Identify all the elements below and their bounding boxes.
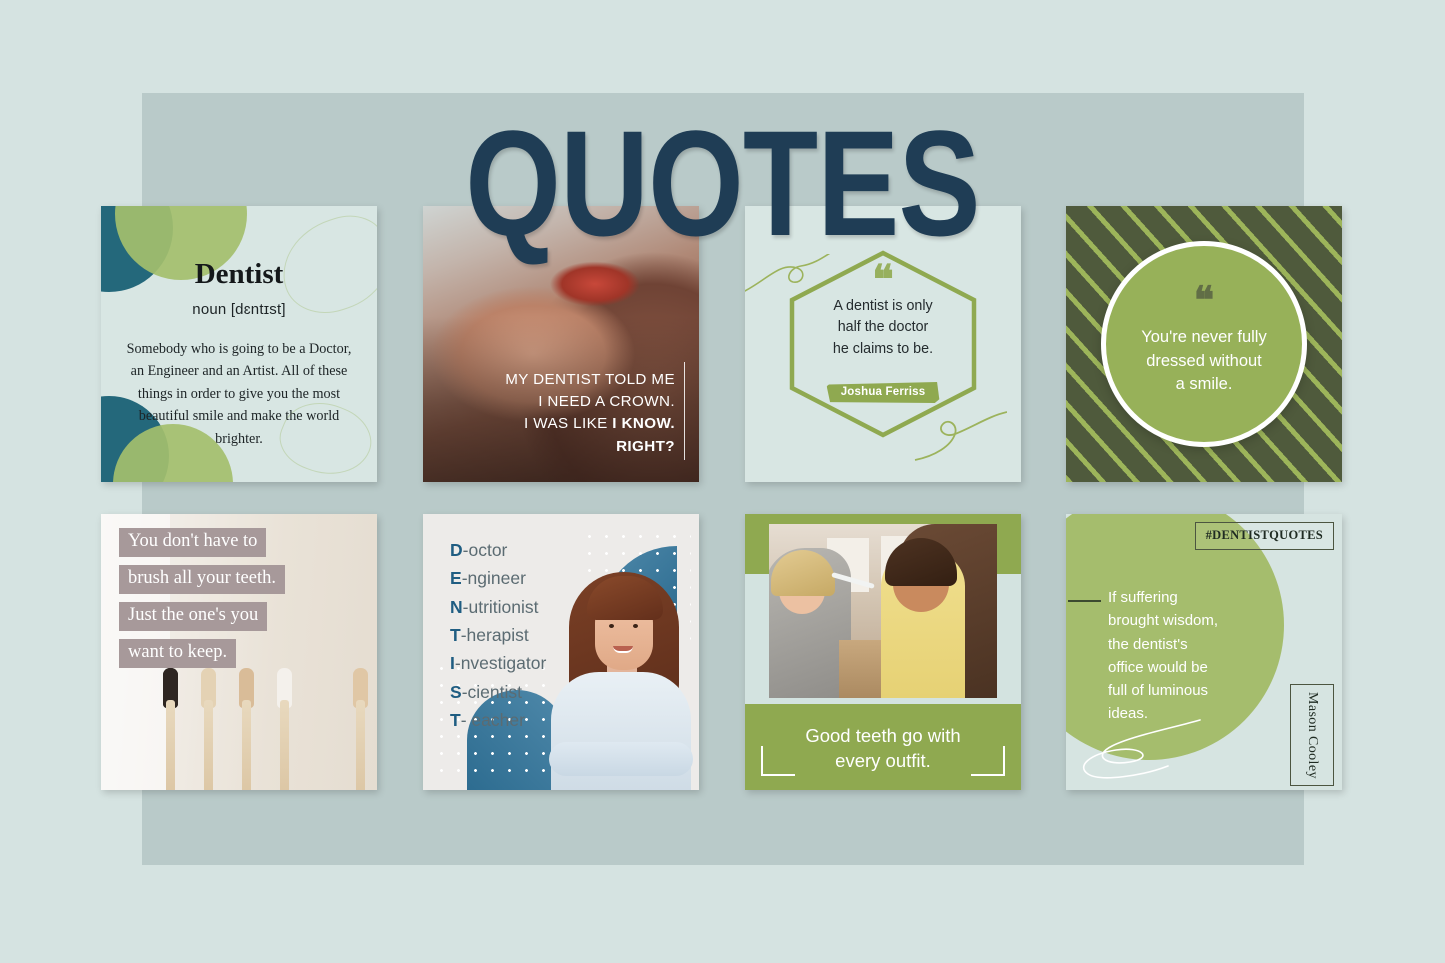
crown-joke-line4: RIGHT? [505,436,675,458]
cooley-line2: brought wisdom, [1108,609,1258,632]
toothbrush-icon [277,668,292,790]
toothbrush-icon [239,668,254,790]
toothbrush-row [163,666,377,790]
acronym-item: T-herapist [450,621,546,649]
cooley-line3: the dentist's [1108,633,1258,656]
squiggle-decoration [911,406,1007,466]
cooley-quote-text: If suffering brought wisdom, the dentist… [1108,586,1258,726]
definition-pronunciation: noun [dɛntɪst] [123,301,355,318]
acronym-item: T- eacher [450,706,546,734]
toothbrush-icon [353,668,368,790]
definition-content: Dentist noun [dɛntɪst] Somebody who is g… [101,258,377,450]
crown-joke-text: MY DENTIST TOLD ME I NEED A CROWN. I WAS… [505,369,675,458]
acronym-item: E-ngineer [450,564,546,592]
hex-quote-author: Joshua Ferriss [827,382,940,403]
dentist-portrait [533,562,699,790]
cooley-line5: full of luminous [1108,679,1258,702]
definition-word: Dentist [123,258,355,291]
hex-quote-line2: half the doctor [810,317,956,338]
outfit-caption: Good teeth go with every outfit. [745,723,1021,774]
crown-joke-line2: I NEED A CROWN. [505,391,675,413]
acronym-item: N-utritionist [450,593,546,621]
circle-badge: ❝ You're never fully dressed without a s… [1101,241,1307,447]
cooley-line4: office would be [1108,656,1258,679]
card-good-teeth-quote[interactable]: Good teeth go with every outfit. [745,514,1021,790]
quote-mark-icon: ❝ [872,268,894,292]
toothbrush-line2: brush all your teeth. [119,565,285,594]
cooley-line1: If suffering [1108,586,1258,609]
acronym-item: S-cientist [450,678,546,706]
crown-joke-line1: MY DENTIST TOLD ME [505,369,675,391]
hashtag-label: #DENTISTQUOTES [1206,528,1323,543]
toothbrush-line1: You don't have to [119,528,266,557]
smile-quote-line2: dressed without [1141,350,1266,373]
acronym-list: D-octor E-ngineer N-utritionist T-herapi… [450,536,546,734]
card-toothbrush-quote[interactable]: You don't have to brush all your teeth. … [101,514,377,790]
toothbrush-icon [201,668,216,790]
toothbrush-quote-text: You don't have to brush all your teeth. … [119,528,285,676]
quote-mark-icon: ❝ [1194,291,1214,312]
hex-quote-line3: he claims to be. [810,339,956,360]
hex-quote-line1: A dentist is only [810,296,956,317]
family-brushing-photo [769,524,997,698]
toothbrush-line4: want to keep. [119,639,236,668]
toothbrush-icon [163,668,178,790]
smile-quote-text: You're never fully dressed without a smi… [1121,326,1286,396]
crown-joke-line3: I WAS LIKE I KNOW. [505,413,675,435]
card-mason-cooley-quote[interactable]: #DENTISTQUOTES If suffering brought wisd… [1066,514,1342,790]
acronym-item: I-nvestigator [450,649,546,677]
hashtag-box: #DENTISTQUOTES [1195,522,1334,550]
cooley-author: Mason Cooley [1290,684,1334,786]
smile-quote-line1: You're never fully [1141,326,1266,349]
card-dentist-acronym[interactable]: D-octor E-ngineer N-utritionist T-herapi… [423,514,699,790]
acronym-item: D-octor [450,536,546,564]
smile-quote-line3: a smile. [1141,373,1266,396]
hexagon-author-banner: Joshua Ferriss [827,382,940,403]
outfit-line1: Good teeth go with [745,723,1021,749]
outfit-line2: every outfit. [745,748,1021,774]
hexagon-quote-text: A dentist is only half the doctor he cla… [788,296,978,360]
scribble-decoration [1072,718,1202,784]
definition-body: Somebody who is going to be a Doctor, an… [123,338,355,450]
toothbrush-line3: Just the one's you [119,602,267,631]
page-title: QUOTES [130,108,1315,258]
dash-decoration [1068,600,1101,602]
vertical-rule-decoration [684,362,686,460]
